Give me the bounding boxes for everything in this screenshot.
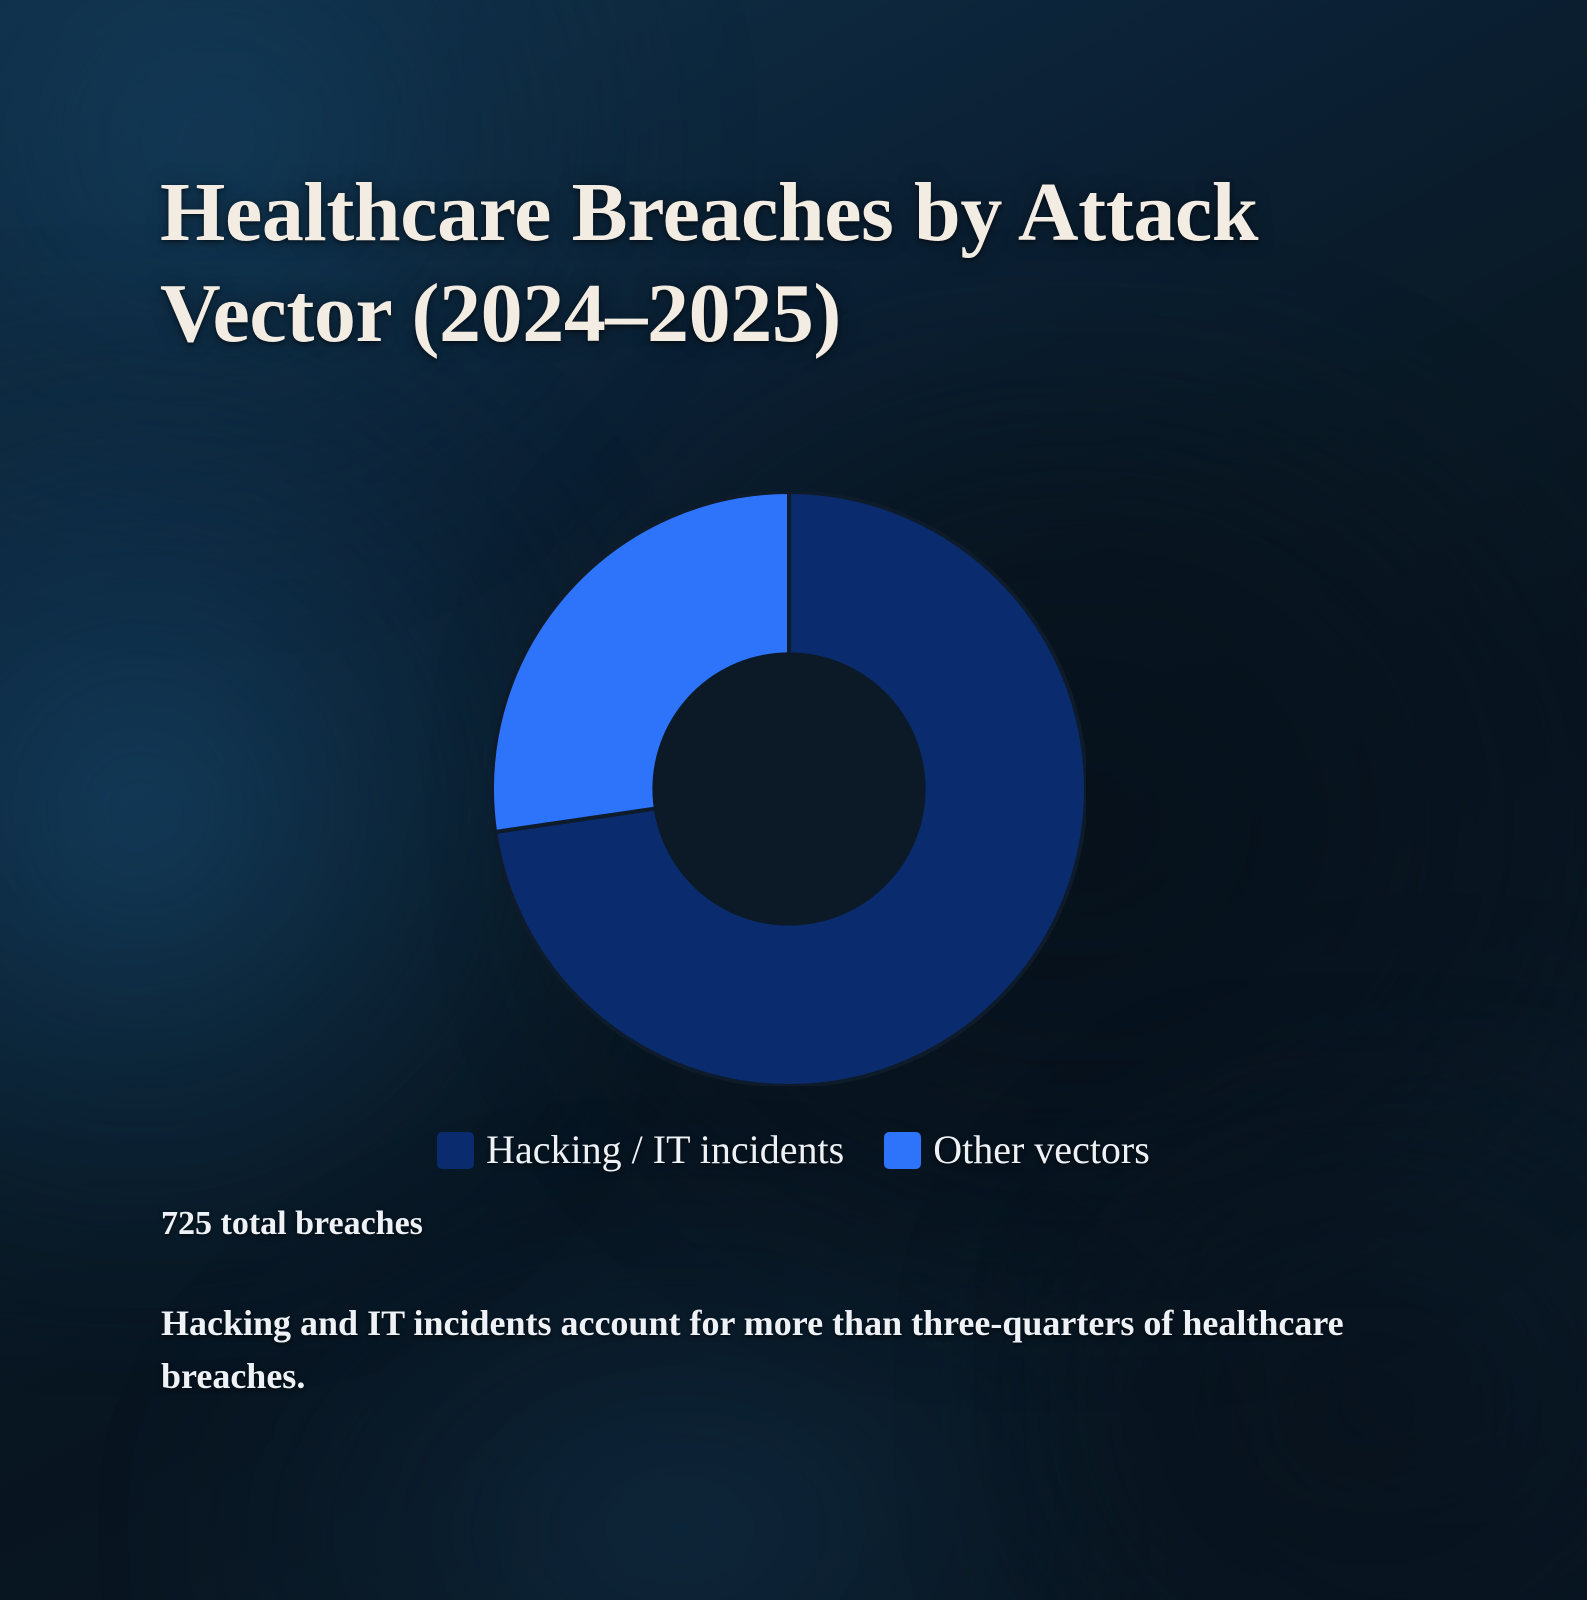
donut-chart-svg <box>492 492 1086 1086</box>
insight-caption: Hacking and IT incidents account for mor… <box>161 1297 1391 1402</box>
legend-item-hacking-it-incidents[interactable]: Hacking / IT incidents <box>437 1130 844 1170</box>
page-title: Healthcare Breaches by Attack Vector (20… <box>160 163 1420 365</box>
legend-item-other-vectors[interactable]: Other vectors <box>884 1130 1150 1170</box>
total-breaches-label: 725 total breaches <box>161 1205 423 1243</box>
chart-legend: Hacking / IT incidents Other vectors <box>0 1130 1587 1170</box>
donut-center-hole <box>652 652 925 925</box>
donut-chart <box>492 492 1086 1086</box>
legend-swatch-other-vectors <box>884 1132 921 1169</box>
legend-swatch-hacking-it-incidents <box>437 1132 474 1169</box>
infographic-content: Healthcare Breaches by Attack Vector (20… <box>0 0 1587 1600</box>
legend-label-hacking-it-incidents: Hacking / IT incidents <box>486 1130 844 1170</box>
legend-label-other-vectors: Other vectors <box>933 1130 1150 1170</box>
